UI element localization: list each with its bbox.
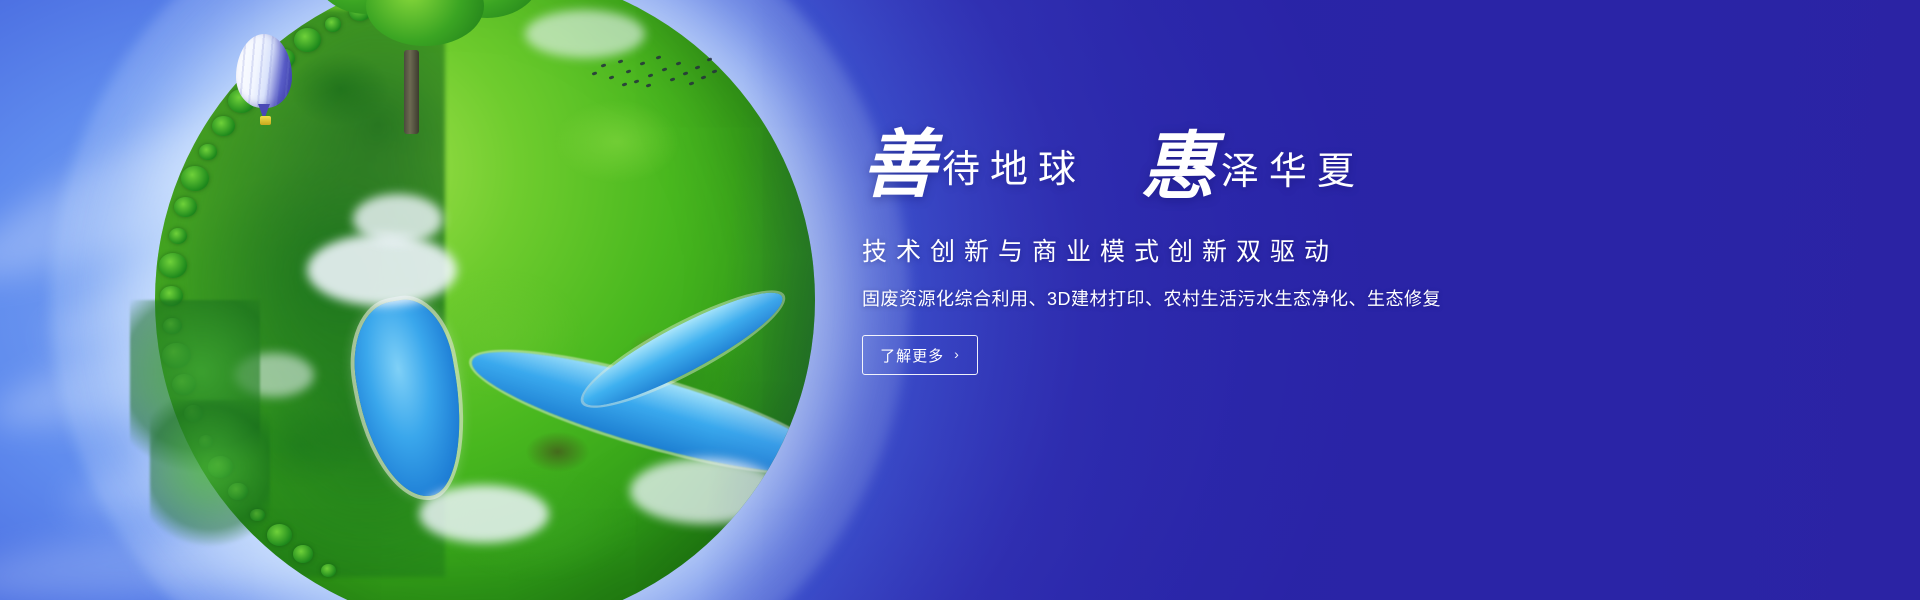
headline-plain-2: 泽华夏 [1221,152,1365,190]
headline-plain-1: 待地球 [942,150,1086,188]
learn-more-label: 了解更多 [880,345,944,366]
hero-banner: 善 待地球 惠 泽华夏 技术创新与商业模式创新双驱动 固废资源化综合利用、3D建… [0,0,1920,600]
headline-brush-char-2: 惠 [1141,130,1215,204]
page-description: 固废资源化综合利用、3D建材打印、农村生活污水生态净化、生态修复 [862,285,1502,311]
headline-brush-char-1: 善 [862,128,936,202]
page-title: 善 待地球 惠 泽华夏 [862,118,1502,214]
page-subtitle: 技术创新与商业模式创新双驱动 [862,232,1502,268]
chevron-right-icon: › [954,346,960,362]
learn-more-button[interactable]: 了解更多 › [862,335,978,375]
hero-content: 善 待地球 惠 泽华夏 技术创新与商业模式创新双驱动 固废资源化综合利用、3D建… [862,118,1502,375]
